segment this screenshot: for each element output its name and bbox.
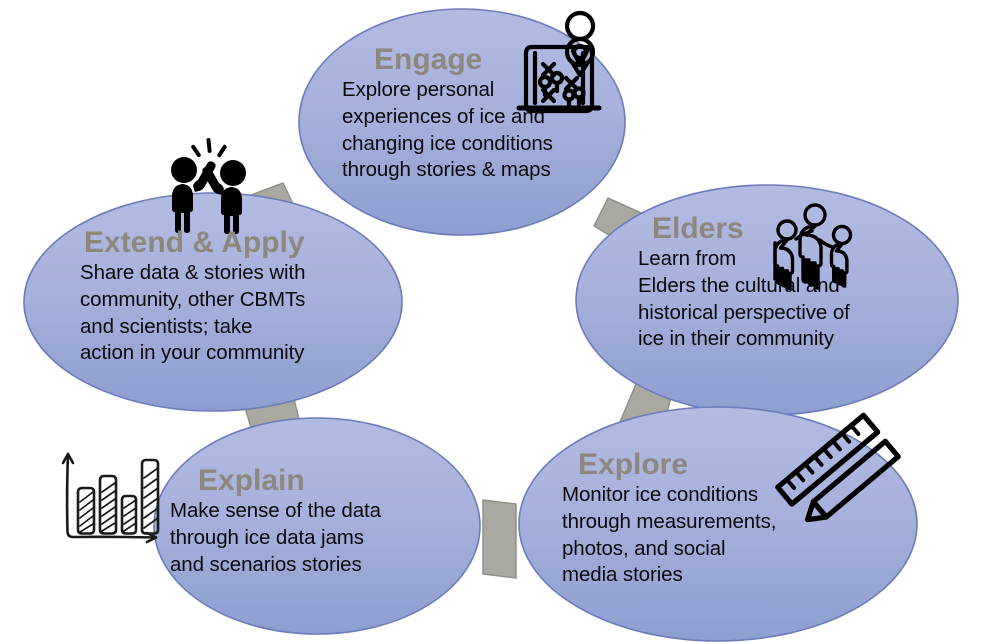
cycle-diagram: Engage Explore personal experiences of i… xyxy=(0,0,988,642)
node-explain-body: Make sense of the data through ice data … xyxy=(170,498,438,578)
node-engage-heading: Engage xyxy=(342,44,604,76)
node-elders-body: Learn from Elders the cultural and histo… xyxy=(638,246,906,353)
connector-explore-to-explain xyxy=(483,500,516,578)
node-extend-apply[interactable]: Extend & Apply Share data & stories with… xyxy=(80,227,360,367)
node-engage[interactable]: Engage Explore personal experiences of i… xyxy=(342,44,604,184)
node-explain[interactable]: Explain Make sense of the data through i… xyxy=(170,465,438,578)
node-explore-heading: Explore xyxy=(562,449,830,481)
node-explore[interactable]: Explore Monitor ice conditions through m… xyxy=(562,449,830,589)
node-elders[interactable]: Elders Learn from Elders the cultural an… xyxy=(638,213,906,353)
node-engage-body: Explore personal experiences of ice and … xyxy=(342,77,604,184)
node-explain-heading: Explain xyxy=(170,465,438,497)
node-extend-apply-body: Share data & stories with community, oth… xyxy=(80,260,360,367)
node-elders-heading: Elders xyxy=(638,213,906,245)
node-extend-apply-heading: Extend & Apply xyxy=(80,227,360,259)
node-explore-body: Monitor ice conditions through measureme… xyxy=(562,482,830,589)
